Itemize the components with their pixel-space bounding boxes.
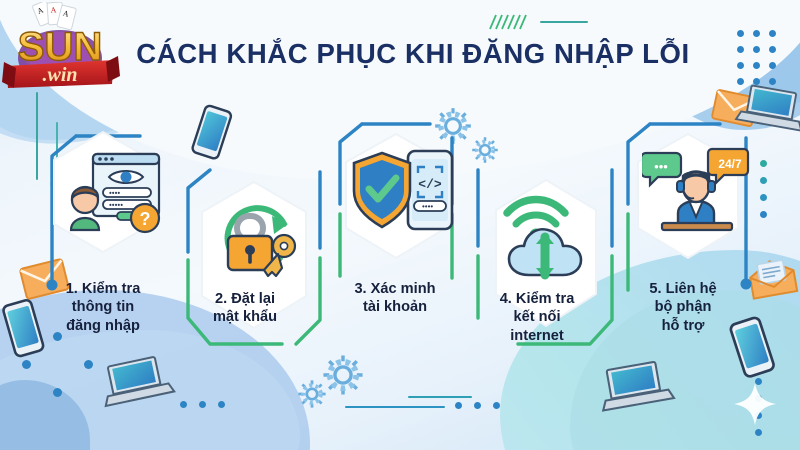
- wifi-cloud-sync-icon: [496, 190, 602, 284]
- step-1-label: 1. Kiểm tra thông tin đăng nhập: [28, 280, 178, 335]
- infographic-canvas: A A A SUN .win CÁCH KHẮC PHỤC KHI ĐĂNG N…: [0, 0, 800, 450]
- login-form-user-icon: •••• ••••• ?: [60, 148, 170, 240]
- shield-check-phone-icon: </> ••••: [350, 146, 462, 238]
- svg-text:24/7: 24/7: [718, 157, 742, 171]
- svg-text:••••: ••••: [109, 189, 120, 198]
- svg-text:••••: ••••: [422, 202, 433, 211]
- step-4-label: 4. Kiểm tra kết nối internet: [462, 290, 612, 345]
- step-2-label: 2. Đặt lại mật khẩu: [170, 290, 320, 327]
- support-agent-headset-icon: ••• 24/7: [640, 144, 752, 236]
- svg-text:•••: •••: [654, 159, 668, 174]
- steps-container: •••• ••••• ? 1. Kiểm tra thông tin đăng …: [0, 0, 800, 450]
- svg-text:?: ?: [140, 209, 151, 229]
- step-5-label: 5. Liên hệ bộ phận hỗ trợ: [608, 280, 758, 335]
- svg-text:</>: </>: [418, 177, 442, 192]
- padlock-key-reset-icon: [208, 198, 308, 288]
- step-3-label: 3. Xác minh tài khoản: [320, 280, 470, 317]
- svg-text:•••••: •••••: [109, 201, 123, 210]
